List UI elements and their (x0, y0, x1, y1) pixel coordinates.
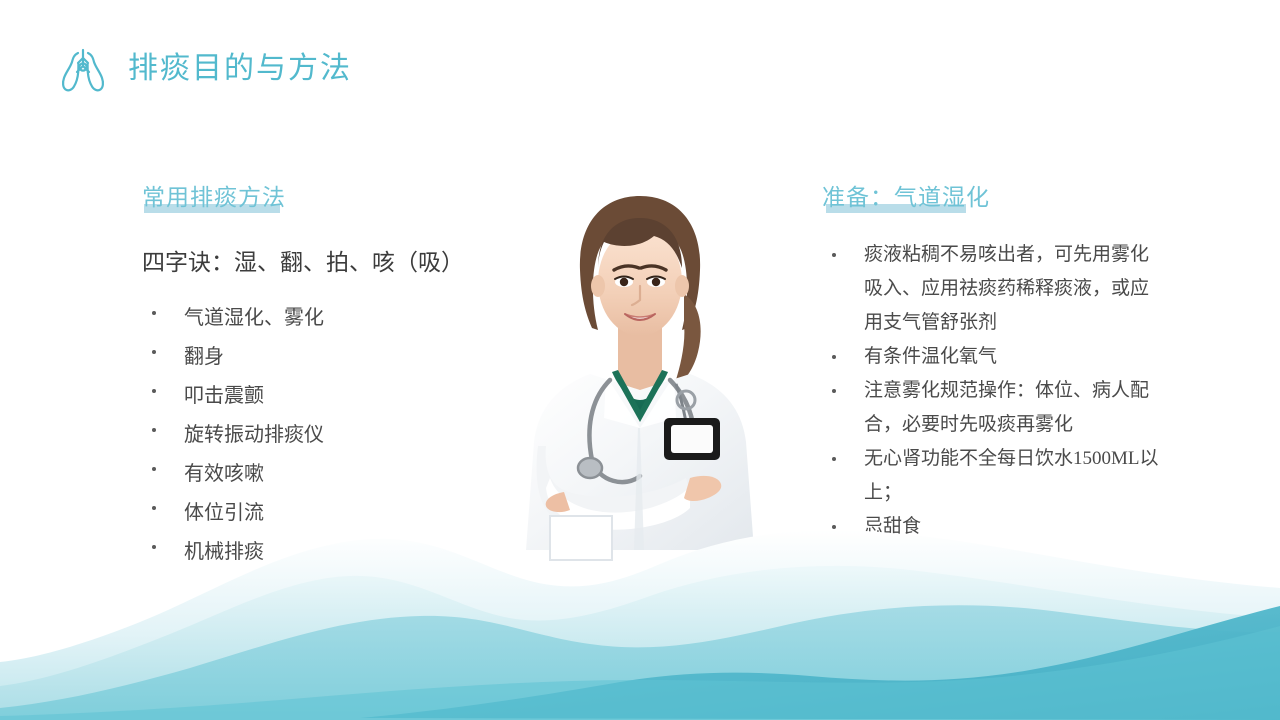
right-column-bullet-list: 痰液粘稠不易咳出者，可先用雾化吸入、应用祛痰药稀释痰液，或应用支气管舒张剂 有条… (822, 238, 1162, 544)
list-item: 旋转振动排痰仪 (142, 416, 472, 455)
list-item: 痰液粘稠不易咳出者，可先用雾化吸入、应用祛痰药稀释痰液，或应用支气管舒张剂 (822, 238, 1162, 340)
slide-header: 排痰目的与方法 (56, 44, 352, 94)
list-item: 体位引流 (142, 494, 472, 533)
lungs-icon (56, 44, 110, 94)
right-column-heading-label: 准备：气道湿化 (822, 185, 990, 210)
slide-root: 排痰目的与方法 常用排痰方法 四字诀：湿、翻、拍、咳（吸） 气道湿化、雾化 翻身… (0, 0, 1280, 720)
left-column-lead: 四字诀：湿、翻、拍、咳（吸） (142, 243, 472, 277)
left-column: 常用排痰方法 四字诀：湿、翻、拍、咳（吸） 气道湿化、雾化 翻身 叩击震颤 旋转… (142, 178, 472, 572)
list-item: 有效咳嗽 (142, 455, 472, 494)
left-column-heading: 常用排痰方法 (142, 178, 286, 212)
page-title: 排痰目的与方法 (128, 54, 352, 84)
list-item: 叩击震颤 (142, 377, 472, 416)
right-column: 准备：气道湿化 痰液粘稠不易咳出者，可先用雾化吸入、应用祛痰药稀释痰液，或应用支… (822, 178, 1162, 544)
right-column-heading: 准备：气道湿化 (822, 178, 990, 212)
wave-decoration (0, 530, 1280, 720)
list-item: 注意雾化规范操作：体位、病人配合，必要时先吸痰再雾化 (822, 374, 1162, 442)
list-item: 有条件温化氧气 (822, 340, 1162, 374)
list-item: 无心肾功能不全每日饮水1500ML以上； (822, 442, 1162, 510)
list-item: 翻身 (142, 338, 472, 377)
doctor-photo (494, 178, 786, 563)
list-item: 气道湿化、雾化 (142, 299, 472, 338)
left-column-heading-label: 常用排痰方法 (142, 185, 286, 210)
